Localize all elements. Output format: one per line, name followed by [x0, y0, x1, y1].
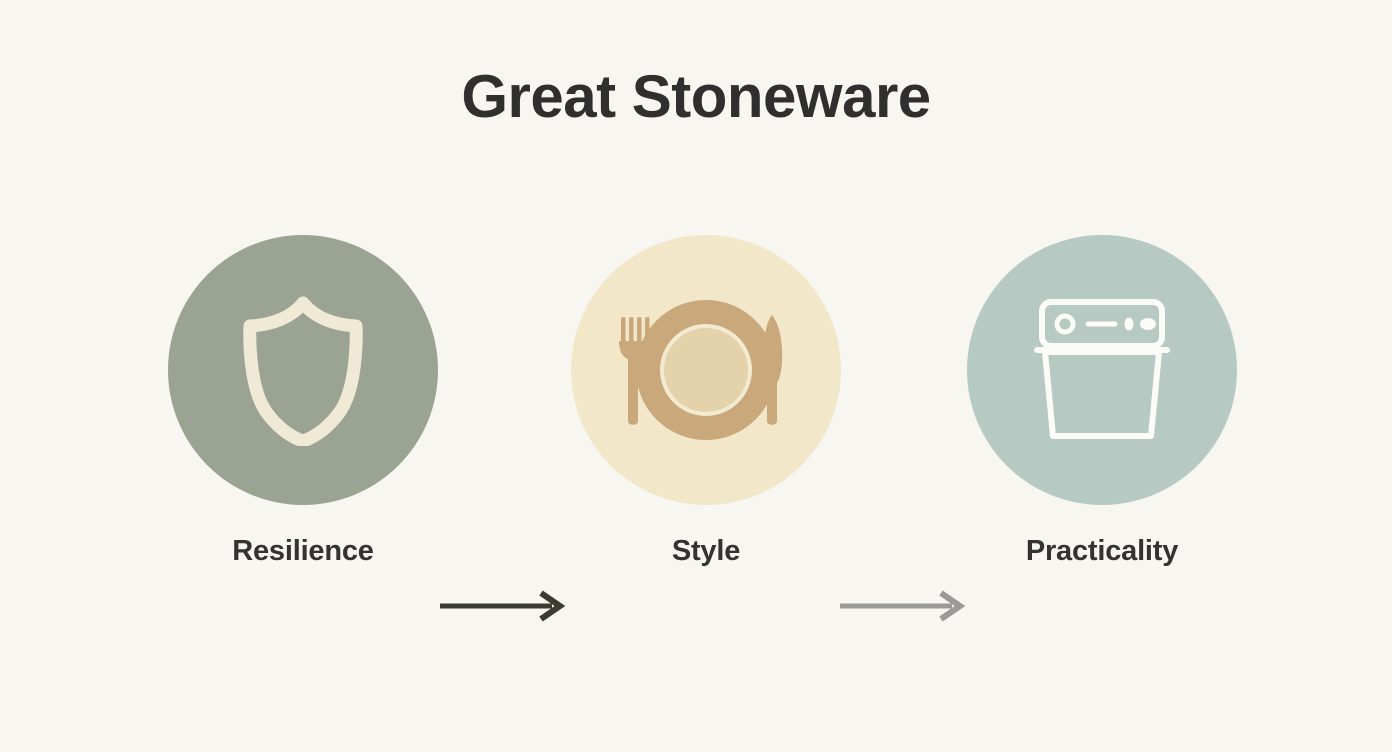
shield-icon	[237, 294, 369, 446]
icon-circle-resilience	[168, 235, 438, 505]
flow-label-style: Style	[571, 535, 841, 568]
process-flow	[0, 235, 1392, 515]
icon-circle-practicality	[967, 235, 1237, 505]
flow-step-style[interactable]	[571, 235, 841, 505]
icon-circle-style	[571, 235, 841, 505]
page-title: Great Stoneware	[0, 62, 1392, 131]
infographic-canvas: Great Stoneware	[0, 0, 1392, 752]
flow-label-resilience: Resilience	[168, 535, 438, 568]
flow-step-practicality[interactable]	[967, 235, 1237, 505]
flow-label-practicality: Practicality	[967, 535, 1237, 568]
dishwasher-icon	[1029, 294, 1175, 446]
flow-labels: Resilience Style Practicality	[0, 535, 1392, 587]
arrow-resilience-to-style	[440, 590, 568, 622]
plate-cutlery-icon	[606, 295, 806, 445]
arrow-style-to-practicality	[840, 590, 968, 622]
flow-step-resilience[interactable]	[168, 235, 438, 505]
